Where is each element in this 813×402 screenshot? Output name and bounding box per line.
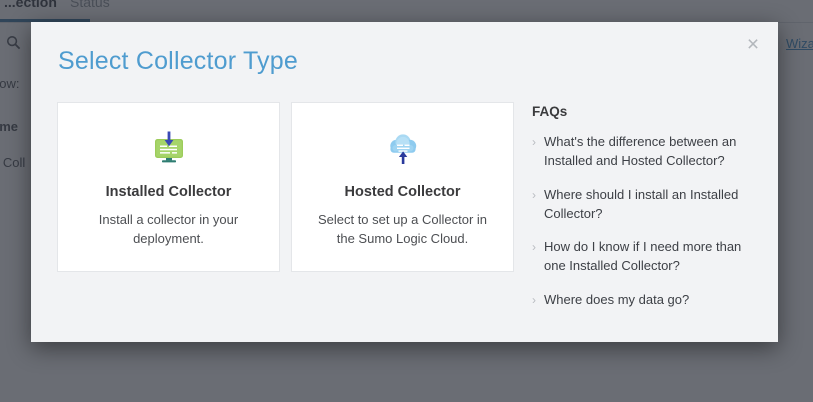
faq-item[interactable]: › Where does my data go? bbox=[532, 291, 760, 310]
cloud-upload-icon bbox=[383, 127, 423, 171]
close-icon[interactable]: × bbox=[740, 31, 766, 57]
faq-panel: FAQs › What's the difference between an … bbox=[532, 104, 760, 325]
dialog-title: Select Collector Type bbox=[58, 47, 298, 76]
chevron-right-icon: › bbox=[532, 133, 536, 171]
installed-collector-card[interactable]: Installed Collector Install a collector … bbox=[57, 102, 280, 272]
faq-item[interactable]: › Where should I install an Installed Co… bbox=[532, 186, 760, 224]
chevron-right-icon: › bbox=[532, 186, 536, 224]
chevron-right-icon: › bbox=[532, 291, 536, 310]
card-description: Install a collector in your deployment. bbox=[83, 211, 255, 249]
chevron-right-icon: › bbox=[532, 238, 536, 276]
faq-item[interactable]: › What's the difference between an Insta… bbox=[532, 133, 760, 171]
card-title: Installed Collector bbox=[106, 184, 232, 200]
faq-link[interactable]: What's the difference between an Install… bbox=[544, 133, 760, 171]
faq-item[interactable]: › How do I know if I need more than one … bbox=[532, 238, 760, 276]
select-collector-type-dialog: Select Collector Type × bbox=[31, 22, 778, 342]
faq-link[interactable]: How do I know if I need more than one In… bbox=[544, 238, 760, 276]
faq-heading: FAQs bbox=[532, 104, 760, 119]
card-description: Select to set up a Collector in the Sumo… bbox=[317, 211, 489, 249]
hosted-collector-card[interactable]: Hosted Collector Select to set up a Coll… bbox=[291, 102, 514, 272]
faq-link[interactable]: Where should I install an Installed Coll… bbox=[544, 186, 760, 224]
monitor-download-icon bbox=[149, 127, 189, 171]
card-title: Hosted Collector bbox=[344, 184, 460, 200]
faq-link[interactable]: Where does my data go? bbox=[544, 291, 689, 310]
collector-type-options: Installed Collector Install a collector … bbox=[57, 102, 514, 272]
